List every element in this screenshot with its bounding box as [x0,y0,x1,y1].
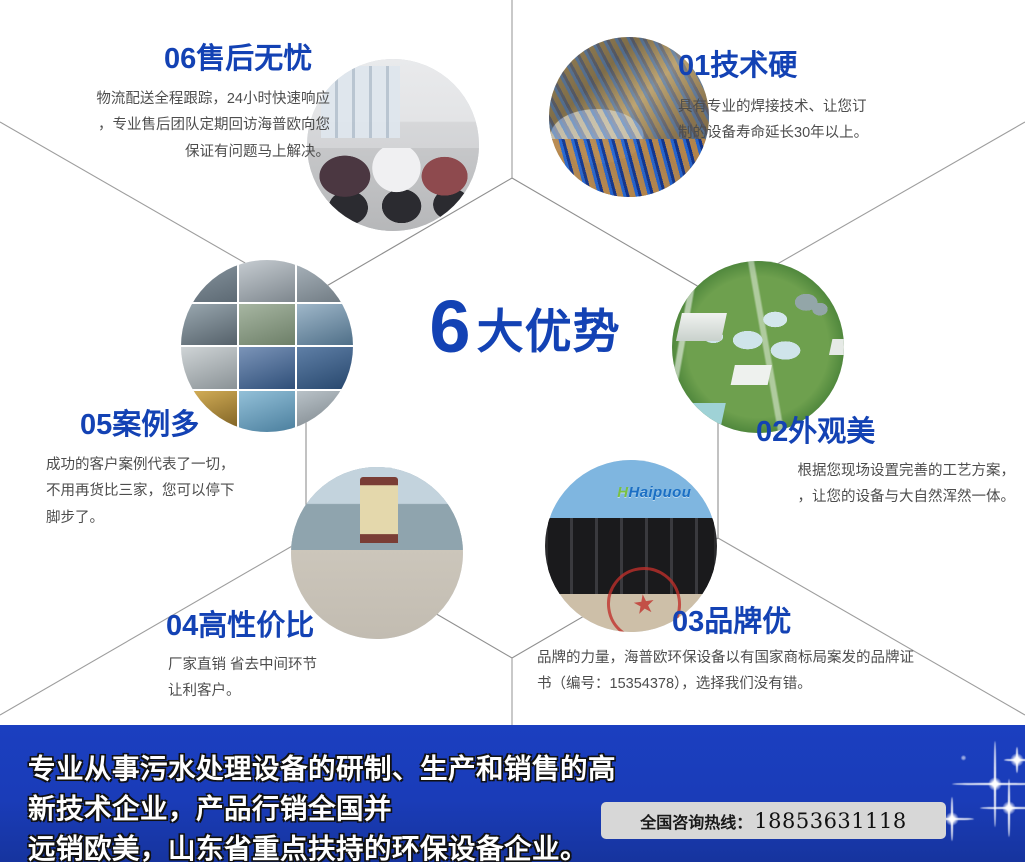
feature-body-line: 厂家直销 省去中间环节 [168,652,468,678]
center-title: 6大优势 [395,290,655,364]
feature-body-line: 脚步了。 [46,505,326,531]
feature-title-03: 03品牌优 [672,608,791,637]
feature-body-04: 厂家直销 省去中间环节 让利客户。 [168,652,468,705]
feature-body-line: 根据您现场设置完善的工艺方案， [690,458,1015,484]
hotline-badge[interactable]: 全国咨询热线： 18853631118 [601,802,946,839]
case-collage-photo [181,260,353,432]
banner-slogan-line: 远销欧美，山东省重点扶持的环保设备企业。 [28,829,628,862]
feature-body-line: 保证有问题马上解决。 [20,139,330,165]
factory-gate-photo [291,467,463,639]
feature-image-02 [672,261,844,433]
feature-body-line: 不用再货比三家，您可以停下 [46,478,326,504]
hotline-label: 全国咨询热线： [640,809,752,833]
feature-image-04 [291,467,463,639]
center-number: 6 [429,285,469,368]
feature-body-03: 品牌的力量，海普欧环保设备以有国家商标局案发的品牌证 书（编号：15354378… [537,645,1017,698]
haipuou-brand-logo: HHaipuou [617,484,691,501]
aerial-plant-photo [672,261,844,433]
brand-logo-text: Haipuou [628,484,691,501]
center-word: 大优势 [477,305,621,358]
office-photo [307,59,479,231]
advantages-infographic: 6大优势 06售后无忧 物流配送全程跟踪，24小时快速响应 ，专业售后团队定期回… [0,0,1025,862]
sparkle-icon [1004,747,1025,773]
feature-body-05: 成功的客户案例代表了一切， 不用再货比三家，您可以停下 脚步了。 [46,452,326,531]
feature-body-line: 书（编号：15354378），选择我们没有错。 [537,671,1017,697]
sparkle-icon [980,779,1025,837]
feature-body-line: ，让您的设备与大自然浑然一体。 [690,484,1015,510]
feature-body-line: 成功的客户案例代表了一切， [46,452,326,478]
feature-body-01: 具有专业的焊接技术、让您订 制的设备寿命延长30年以上。 [678,94,998,147]
feature-image-05 [181,260,353,432]
feature-body-line: 物流配送全程跟踪，24小时快速响应 [20,86,330,112]
banner-slogan-line: 专业从事污水处理设备的研制、生产和销售的高新技术企业，产品行销全国并 [28,749,628,829]
feature-body-line: 具有专业的焊接技术、让您订 [678,94,998,120]
feature-title-01: 01技术硬 [678,52,797,81]
feature-body-line: 让利客户。 [168,678,468,704]
feature-body-line: 品牌的力量，海普欧环保设备以有国家商标局案发的品牌证 [537,645,1017,671]
bottom-banner: 专业从事污水处理设备的研制、生产和销售的高新技术企业，产品行销全国并 远销欧美，… [0,725,1025,862]
feature-title-05: 05案例多 [80,411,199,440]
banner-slogan: 专业从事污水处理设备的研制、生产和销售的高新技术企业，产品行销全国并 远销欧美，… [28,749,628,862]
hotline-number: 18853631118 [754,809,906,833]
feature-title-02: 02外观美 [756,418,875,447]
feature-title-06: 06售后无忧 [164,45,312,74]
feature-body-06: 物流配送全程跟踪，24小时快速响应 ，专业售后团队定期回访海普欧向您 保证有问题… [20,86,330,165]
feature-body-02: 根据您现场设置完善的工艺方案， ，让您的设备与大自然浑然一体。 [690,458,1015,511]
feature-title-04: 04高性价比 [166,612,314,641]
feature-image-06 [307,59,479,231]
feature-body-line: ，专业售后团队定期回访海普欧向您 [20,112,330,138]
feature-body-line: 制的设备寿命延长30年以上。 [678,120,998,146]
sparkle-icon [952,741,1025,827]
